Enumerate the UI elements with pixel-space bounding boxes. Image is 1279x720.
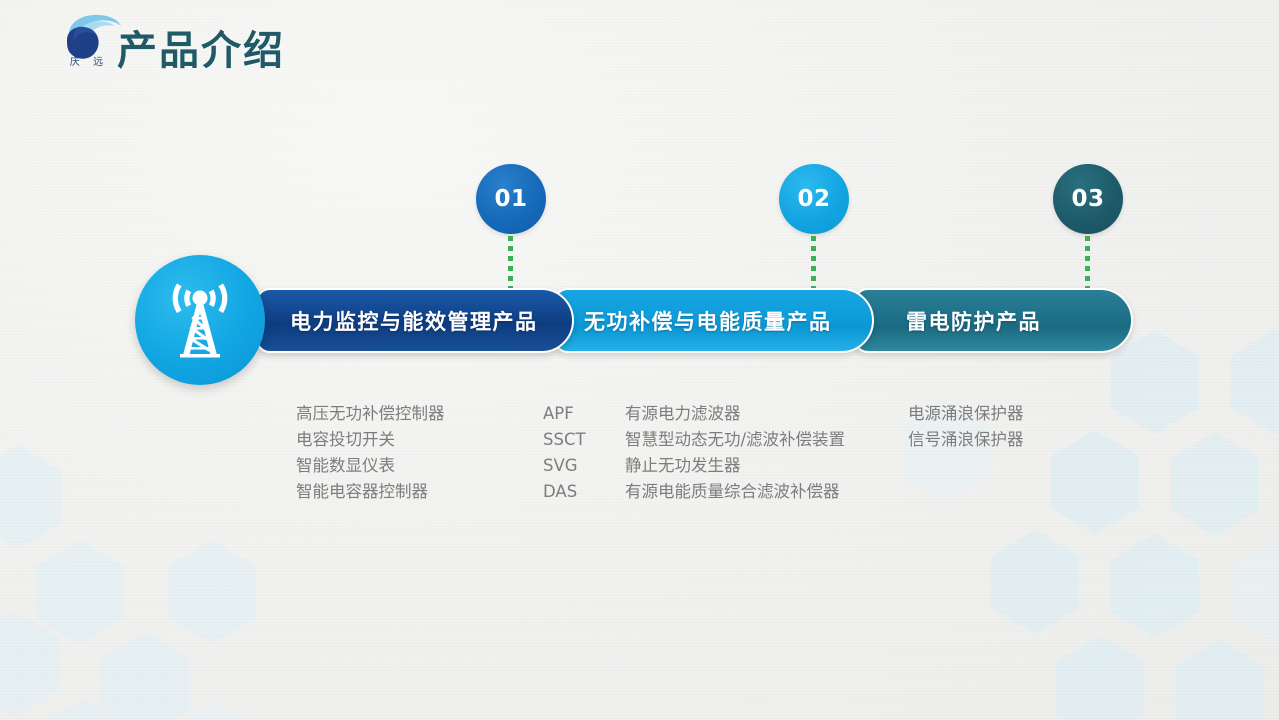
banner-segment-lightning-protection[interactable]: 雷电防护产品 [854, 288, 1133, 353]
radio-tower-icon [160, 281, 240, 359]
list-item: 智能数显仪表 [296, 453, 445, 479]
list-item: SVG 静止无功发生器 [543, 453, 845, 479]
list-item: DAS 有源电能质量综合滤波补偿器 [543, 479, 845, 505]
slide-canvas: 庆 远 产品介绍 01 02 03 雷电防护产品 无功补偿与电能质量产品 电力监… [0, 0, 1279, 720]
banner-segment-label-3: 雷电防护产品 [906, 306, 1041, 336]
banner-icon-badge[interactable] [130, 255, 270, 385]
list-item: SSCT 智慧型动态无功/滤波补偿装置 [543, 427, 845, 453]
list-item: 信号涌浪保护器 [908, 427, 1024, 453]
list-item: APF 有源电力滤波器 [543, 401, 845, 427]
list-item-desc: 智慧型动态无功/滤波补偿装置 [625, 427, 845, 453]
list-item-abbr: SSCT [543, 427, 625, 453]
list-item: 电容投切开关 [296, 427, 445, 453]
banner-segment-label-1: 电力监控与能效管理产品 [290, 306, 538, 336]
banner-segment-reactive-power[interactable]: 无功补偿与电能质量产品 [554, 288, 874, 353]
product-list-column-2: APF 有源电力滤波器 SSCT 智慧型动态无功/滤波补偿装置 SVG 静止无功… [543, 401, 845, 505]
list-item-desc: 有源电力滤波器 [625, 401, 845, 427]
product-list-column-1: 高压无功补偿控制器 电容投切开关 智能数显仪表 智能电容器控制器 [296, 401, 445, 505]
list-item-abbr: DAS [543, 479, 625, 505]
list-item-abbr: SVG [543, 453, 625, 479]
list-item: 高压无功补偿控制器 [296, 401, 445, 427]
list-item: 电源涌浪保护器 [908, 401, 1024, 427]
list-item-desc: 静止无功发生器 [625, 453, 845, 479]
list-item-abbr: APF [543, 401, 625, 427]
list-item-desc: 有源电能质量综合滤波补偿器 [625, 479, 845, 505]
list-item: 智能电容器控制器 [296, 479, 445, 505]
product-list-column-3: 电源涌浪保护器 信号涌浪保护器 [908, 401, 1024, 453]
banner-segment-power-monitoring[interactable]: 电力监控与能效管理产品 [256, 288, 574, 353]
banner-segment-label-2: 无功补偿与电能质量产品 [584, 306, 832, 336]
